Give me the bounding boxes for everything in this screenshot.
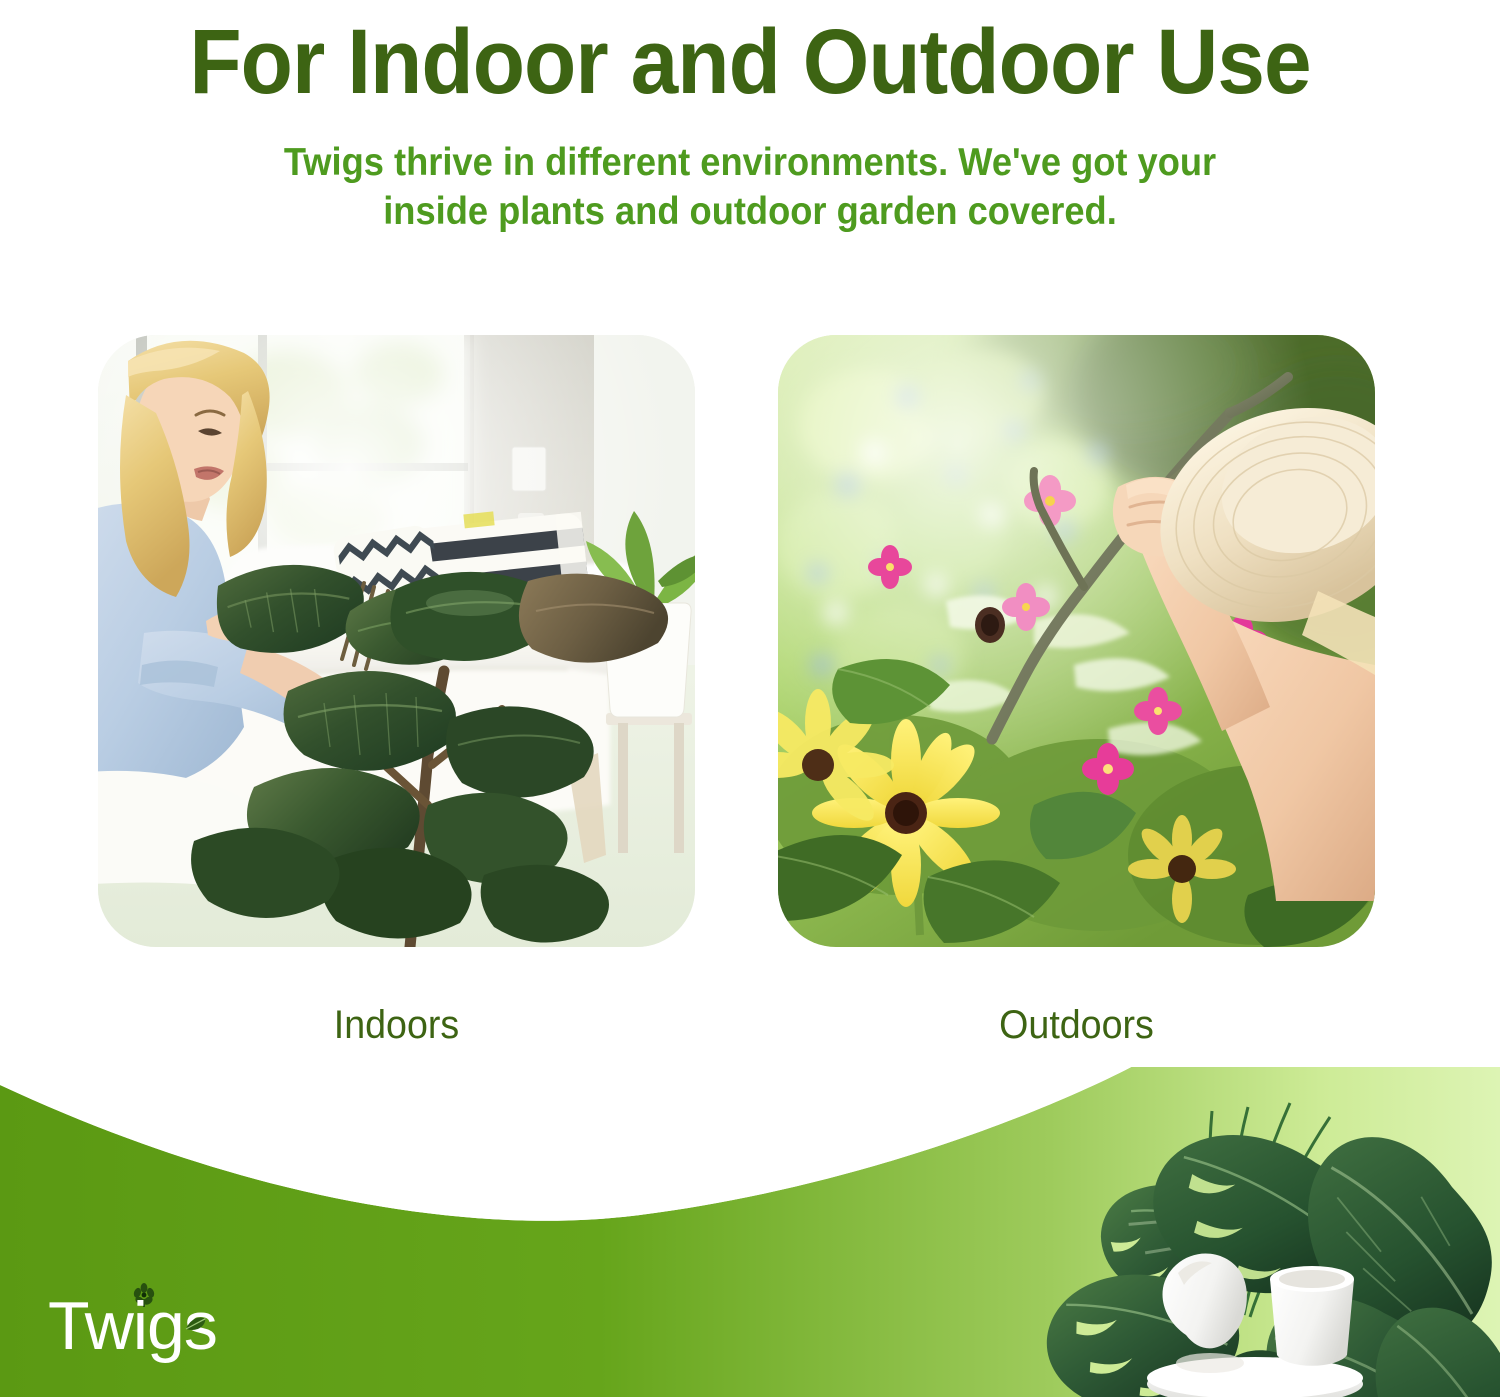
header: For Indoor and Outdoor Use Twigs thrive … — [0, 0, 1500, 236]
image-card-group — [0, 335, 1500, 955]
brand-logo-graphic: Twigs — [48, 1283, 278, 1369]
caption-outdoors: Outdoors — [796, 1000, 1357, 1050]
subtitle-line-1: Twigs thrive in different environments. … — [53, 138, 1448, 187]
page-subtitle: Twigs thrive in different environments. … — [53, 138, 1448, 236]
subtitle-line-2: inside plants and outdoor garden covered… — [53, 187, 1448, 236]
outdoors-photo — [778, 335, 1375, 947]
indoors-photo — [98, 335, 695, 947]
page-title: For Indoor and Outdoor Use — [53, 0, 1448, 116]
image-card-indoors[interactable] — [98, 335, 695, 947]
image-card-outdoors[interactable] — [778, 335, 1375, 947]
caption-indoors: Indoors — [116, 1000, 677, 1050]
bottom-banner: Twigs — [0, 1067, 1500, 1397]
brand-logo[interactable]: Twigs — [48, 1283, 278, 1369]
